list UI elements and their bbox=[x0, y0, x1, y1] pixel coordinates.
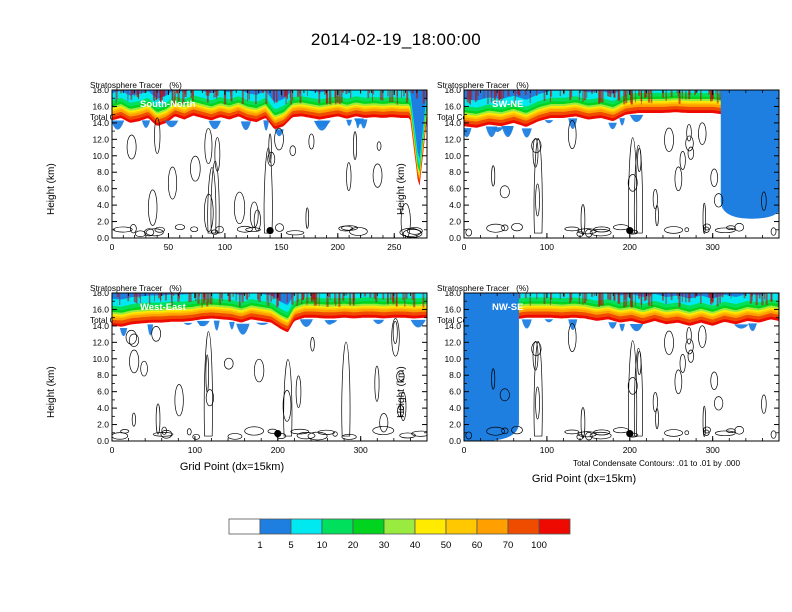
y-tick-label: 10.0 bbox=[92, 354, 109, 364]
y-tick-label: 8.0 bbox=[449, 370, 461, 380]
y-tick-label: 12.0 bbox=[444, 134, 461, 144]
y-tick-label: 16.0 bbox=[444, 304, 461, 314]
colorbar-swatch[interactable] bbox=[322, 519, 353, 534]
contour-note: Total Condensate Contours: .01 to .01 by… bbox=[573, 459, 740, 468]
colorbar-swatch[interactable] bbox=[415, 519, 446, 534]
x-tick-label: 100 bbox=[218, 242, 232, 252]
plot-nw-se[interactable]: 0.02.04.06.08.010.012.014.016.018.001002… bbox=[434, 291, 785, 461]
cross-section-west-east: 0.02.04.06.08.010.012.014.016.018.001002… bbox=[82, 291, 433, 461]
y-tick-label: 0.0 bbox=[449, 233, 461, 243]
plot-south-north[interactable]: 0.02.04.06.08.010.012.014.016.018.005010… bbox=[82, 88, 433, 258]
x-tick-label: 0 bbox=[110, 242, 115, 252]
y-tick-label: 10.0 bbox=[444, 151, 461, 161]
y-axis-label-west-east: Height (km) bbox=[46, 366, 57, 418]
panel-label-sw-ne: SW-NE bbox=[492, 99, 523, 110]
x-tick-label: 200 bbox=[623, 445, 637, 455]
panel-label-nw-se: NW-SE bbox=[492, 302, 523, 313]
y-axis-label-south-north: Height (km) bbox=[46, 163, 57, 215]
y-tick-label: 6.0 bbox=[97, 184, 109, 194]
y-tick-label: 2.0 bbox=[449, 217, 461, 227]
colorbar-swatch[interactable] bbox=[477, 519, 508, 534]
panel-label-west-east: West-East bbox=[140, 302, 187, 313]
y-tick-label: 4.0 bbox=[449, 403, 461, 413]
y-tick-label: 4.0 bbox=[449, 200, 461, 210]
y-tick-label: 6.0 bbox=[449, 387, 461, 397]
colorbar-tick-label: 1 bbox=[257, 540, 262, 551]
y-tick-label: 0.0 bbox=[97, 233, 109, 243]
y-tick-label: 10.0 bbox=[92, 151, 109, 161]
y-tick-label: 12.0 bbox=[92, 134, 109, 144]
y-tick-label: 14.0 bbox=[92, 118, 109, 128]
plot-west-east[interactable]: 0.02.04.06.08.010.012.014.016.018.001002… bbox=[82, 291, 433, 461]
cross-section-sw-ne: 0.02.04.06.08.010.012.014.016.018.001002… bbox=[434, 88, 785, 258]
y-tick-label: 4.0 bbox=[97, 200, 109, 210]
tracer-field-sw-ne bbox=[462, 90, 783, 238]
y-axis-label-sw-ne: Height (km) bbox=[396, 163, 407, 215]
tracer-field-south-north bbox=[111, 90, 427, 239]
colorbar-swatch[interactable] bbox=[291, 519, 322, 534]
y-tick-label: 8.0 bbox=[449, 167, 461, 177]
colorbar-swatch[interactable] bbox=[260, 519, 291, 534]
colorbar-tick-label: 10 bbox=[317, 540, 328, 551]
y-tick-label: 4.0 bbox=[97, 403, 109, 413]
y-tick-label: 18.0 bbox=[444, 291, 461, 298]
colorbar-swatch[interactable] bbox=[539, 519, 570, 534]
y-tick-label: 18.0 bbox=[92, 291, 109, 298]
colorbar-tick-label: 5 bbox=[288, 540, 293, 551]
colorbar-swatch[interactable] bbox=[384, 519, 415, 534]
colorbar-tick-label: 60 bbox=[472, 540, 483, 551]
panel-label-south-north: South-North bbox=[140, 99, 196, 110]
y-tick-label: 18.0 bbox=[444, 88, 461, 95]
x-tick-label: 200 bbox=[623, 242, 637, 252]
colorbar[interactable]: 1510203040506070100 bbox=[228, 518, 571, 555]
x-tick-label: 100 bbox=[188, 445, 202, 455]
x-tick-label: 200 bbox=[271, 445, 285, 455]
cross-section-south-north: 0.02.04.06.08.010.012.014.016.018.005010… bbox=[82, 88, 433, 258]
y-tick-label: 14.0 bbox=[92, 321, 109, 331]
y-tick-label: 14.0 bbox=[444, 321, 461, 331]
y-tick-label: 2.0 bbox=[97, 420, 109, 430]
y-tick-label: 12.0 bbox=[444, 337, 461, 347]
cross-section-nw-se: 0.02.04.06.08.010.012.014.016.018.001002… bbox=[434, 291, 785, 461]
colorbar-tick-label: 30 bbox=[379, 540, 390, 551]
y-axis-label-nw-se: Height (km) bbox=[396, 366, 407, 418]
colorbar-tick-label: 50 bbox=[441, 540, 452, 551]
x-tick-label: 50 bbox=[164, 242, 174, 252]
y-tick-label: 0.0 bbox=[97, 436, 109, 446]
x-tick-label: 250 bbox=[387, 242, 401, 252]
x-tick-label: 200 bbox=[331, 242, 345, 252]
x-tick-label: 150 bbox=[274, 242, 288, 252]
x-tick-label: 300 bbox=[706, 242, 720, 252]
y-tick-label: 14.0 bbox=[444, 118, 461, 128]
x-tick-label: 0 bbox=[462, 242, 467, 252]
y-tick-label: 12.0 bbox=[92, 337, 109, 347]
colorbar-tick-label: 100 bbox=[531, 540, 547, 551]
y-tick-label: 0.0 bbox=[449, 436, 461, 446]
figure-canvas: 2014-02-19_18:00:00 Stratosphere Tracer … bbox=[0, 0, 792, 612]
y-tick-label: 16.0 bbox=[444, 101, 461, 111]
x-axis-label-west-east: Grid Point (dx=15km) bbox=[82, 461, 382, 473]
colorbar-svg: 1510203040506070100 bbox=[228, 518, 571, 555]
y-tick-label: 2.0 bbox=[97, 217, 109, 227]
x-tick-label: 0 bbox=[462, 445, 467, 455]
y-tick-label: 16.0 bbox=[92, 101, 109, 111]
y-tick-label: 6.0 bbox=[449, 184, 461, 194]
colorbar-swatch[interactable] bbox=[229, 519, 260, 534]
x-tick-label: 300 bbox=[354, 445, 368, 455]
colorbar-tick-label: 70 bbox=[503, 540, 514, 551]
y-tick-label: 6.0 bbox=[97, 387, 109, 397]
y-tick-label: 2.0 bbox=[449, 420, 461, 430]
x-tick-label: 300 bbox=[706, 445, 720, 455]
y-tick-label: 8.0 bbox=[97, 370, 109, 380]
colorbar-tick-label: 20 bbox=[348, 540, 359, 551]
plot-sw-ne[interactable]: 0.02.04.06.08.010.012.014.016.018.001002… bbox=[434, 88, 785, 258]
colorbar-swatch[interactable] bbox=[353, 519, 384, 534]
y-tick-label: 8.0 bbox=[97, 167, 109, 177]
x-tick-label: 0 bbox=[110, 445, 115, 455]
x-tick-label: 100 bbox=[540, 242, 554, 252]
colorbar-swatch[interactable] bbox=[508, 519, 539, 534]
tracer-field-west-east bbox=[112, 293, 430, 441]
y-tick-label: 10.0 bbox=[444, 354, 461, 364]
location-marker-south-north bbox=[266, 227, 273, 234]
y-tick-label: 18.0 bbox=[92, 88, 109, 95]
x-axis-label-nw-se: Grid Point (dx=15km) bbox=[434, 473, 734, 485]
x-tick-label: 100 bbox=[540, 445, 554, 455]
page-title: 2014-02-19_18:00:00 bbox=[0, 30, 792, 50]
y-tick-label: 16.0 bbox=[92, 304, 109, 314]
colorbar-swatch[interactable] bbox=[446, 519, 477, 534]
colorbar-tick-label: 40 bbox=[410, 540, 421, 551]
tracer-field-nw-se bbox=[444, 293, 779, 447]
